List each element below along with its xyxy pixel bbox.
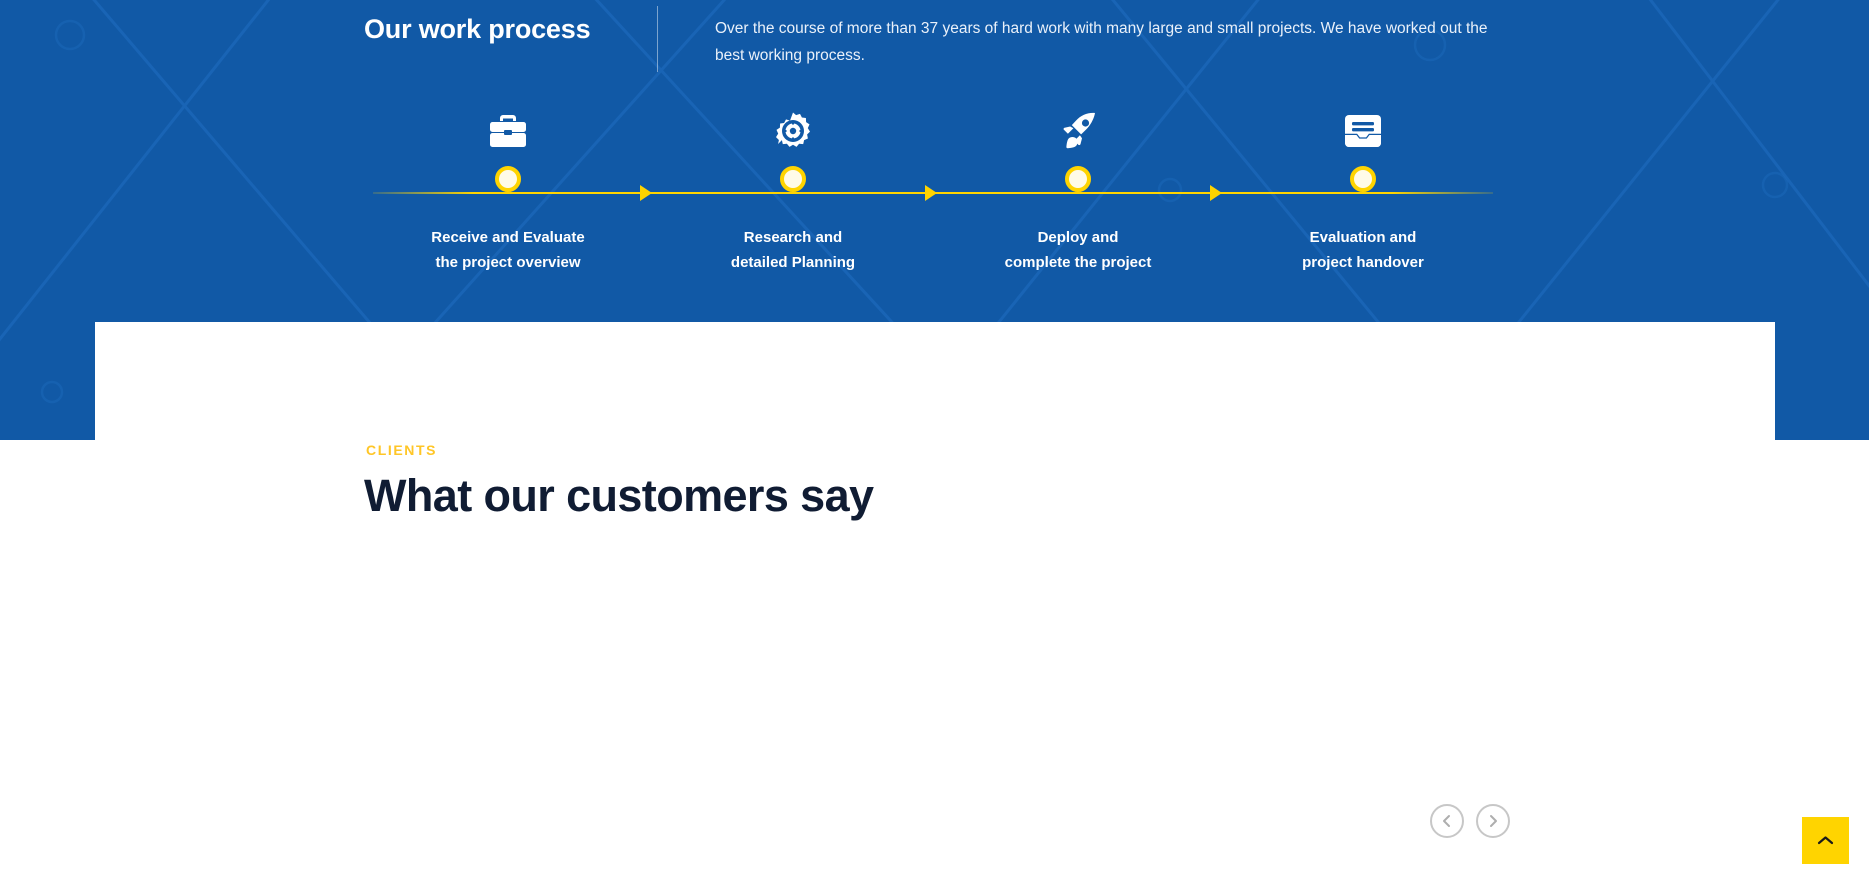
briefcase-icon [358, 100, 658, 162]
chevron-up-icon [1817, 835, 1834, 846]
step-4-line1: Evaluation and [1310, 229, 1417, 246]
scroll-to-top-button[interactable] [1802, 817, 1849, 864]
step-1-line2: the project overview [435, 254, 580, 271]
process-steps: Receive and Evaluate the project overvie… [0, 100, 1869, 290]
step-2-line1: Research and [744, 229, 842, 246]
track-arrow-3 [1210, 185, 1222, 201]
clients-section: CLIENTS What our customers say "We would… [0, 322, 1869, 893]
process-header: Our work process Over the course of more… [0, 0, 1869, 90]
step-dot-1 [495, 166, 521, 192]
chevron-left-icon[interactable] [1430, 804, 1464, 838]
process-description: Over the course of more than 37 years of… [715, 15, 1490, 69]
page-title: What our customers say [364, 470, 873, 522]
step-3-line1: Deploy and [1038, 229, 1119, 246]
process-step-2-label: Research and detailed Planning [643, 225, 943, 275]
gear-icon [643, 100, 943, 162]
process-step-2: Research and detailed Planning [643, 100, 943, 162]
step-dot-3 [1065, 166, 1091, 192]
process-step-4: Evaluation and project handover [1213, 100, 1513, 162]
track-arrow-1 [640, 185, 652, 201]
process-step-1: Receive and Evaluate the project overvie… [358, 100, 658, 162]
process-title: Our work process [364, 14, 654, 45]
step-2-line2: detailed Planning [731, 254, 855, 271]
step-4-line2: project handover [1302, 254, 1424, 271]
testimonial-slider-nav [1430, 804, 1510, 838]
process-step-4-label: Evaluation and project handover [1213, 225, 1513, 275]
track-arrow-2 [925, 185, 937, 201]
chevron-right-icon[interactable] [1476, 804, 1510, 838]
header-divider [657, 6, 658, 72]
step-1-line1: Receive and Evaluate [431, 229, 584, 246]
step-dot-2 [780, 166, 806, 192]
step-3-line2: complete the project [1005, 254, 1152, 271]
rocket-icon [928, 100, 1228, 162]
inbox-icon [1213, 100, 1513, 162]
process-step-3: Deploy and complete the project [928, 100, 1228, 162]
step-dot-4 [1350, 166, 1376, 192]
process-step-3-label: Deploy and complete the project [928, 225, 1228, 275]
process-step-1-label: Receive and Evaluate the project overvie… [358, 225, 658, 275]
page-root: Our work process Over the course of more… [0, 0, 1869, 893]
clients-eyebrow: CLIENTS [366, 442, 437, 458]
